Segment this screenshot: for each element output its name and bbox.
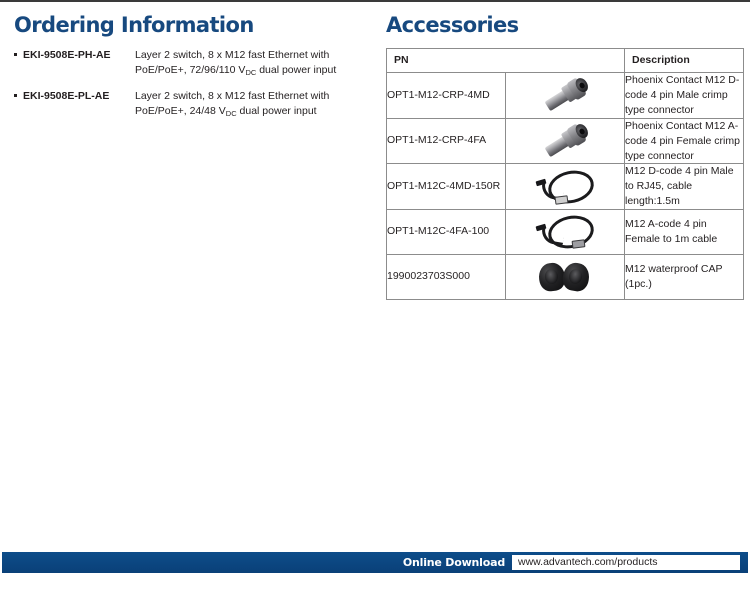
list-item: EKI-9508E-PL-AE Layer 2 switch, 8 x M12 …: [14, 89, 374, 120]
cell-part-number: OPT1-M12C-4FA-100: [387, 210, 506, 255]
m12-connector-female-icon: [532, 121, 598, 161]
bullet-icon: [14, 48, 23, 56]
table-row: OPT1-M12C-4FA-100 M12 A-code 4 pin Femal…: [387, 210, 744, 255]
cell-description: M12 A-code 4 pin Female to 1m cable: [625, 210, 744, 255]
page-top-rule: [0, 0, 750, 2]
ordering-description-subscript: DC: [226, 109, 237, 118]
cell-description: Phoenix Contact M12 A-code 4 pin Female …: [625, 118, 744, 164]
ordering-information-section: Ordering Information EKI-9508E-PH-AE Lay…: [14, 14, 374, 129]
cell-product-image: [506, 73, 625, 119]
ordering-part-number: EKI-9508E-PH-AE: [23, 48, 135, 63]
table-row: 1990023703S000 M12 waterproof CAP (1pc.): [387, 255, 744, 300]
ordering-description: Layer 2 switch, 8 x M12 fast Ethernet wi…: [135, 89, 374, 120]
cell-part-number: OPT1-M12-CRP-4MD: [387, 73, 506, 119]
table-row: OPT1-M12C-4MD-150R M12 D-code 4 pin Male…: [387, 164, 744, 210]
accessories-table-body: OPT1-M12-CRP-4MD Phoenix Contact M12 D-c…: [387, 73, 744, 300]
footer-download-group: Online Download www.advantech.com/produc…: [403, 552, 740, 573]
cell-product-image: [506, 255, 625, 300]
table-row: OPT1-M12-CRP-4MD Phoenix Contact M12 D-c…: [387, 73, 744, 119]
cell-product-image: [506, 210, 625, 255]
table-row: OPT1-M12-CRP-4FA Phoenix Contact M12 A-c…: [387, 118, 744, 164]
cell-description: Phoenix Contact M12 D-code 4 pin Male cr…: [625, 73, 744, 119]
m12-cable-rj45-icon: [532, 167, 598, 207]
online-download-url[interactable]: www.advantech.com/products: [512, 555, 740, 570]
column-header-description: Description: [625, 49, 744, 73]
accessories-table-head: PN Description: [387, 49, 744, 73]
m12-cable-female-icon: [532, 212, 598, 252]
cell-part-number: OPT1-M12-CRP-4FA: [387, 118, 506, 164]
ordering-information-list: EKI-9508E-PH-AE Layer 2 switch, 8 x M12 …: [14, 48, 374, 119]
table-header-row: PN Description: [387, 49, 744, 73]
cell-description: M12 waterproof CAP (1pc.): [625, 255, 744, 300]
footer-bar: Online Download www.advantech.com/produc…: [2, 552, 748, 573]
ordering-description-post: dual power input: [237, 105, 317, 117]
accessories-section: Accessories PN Description OPT1-M12-CRP-…: [386, 14, 744, 300]
cell-part-number: 1990023703S000: [387, 255, 506, 300]
list-item: EKI-9508E-PH-AE Layer 2 switch, 8 x M12 …: [14, 48, 374, 79]
ordering-description-post: dual power input: [256, 64, 336, 76]
m12-connector-male-icon: [532, 75, 598, 115]
online-download-label: Online Download: [403, 556, 512, 569]
ordering-information-heading: Ordering Information: [14, 14, 374, 36]
accessories-table: PN Description OPT1-M12-CRP-4MD Phoenix …: [386, 48, 744, 300]
cell-part-number: OPT1-M12C-4MD-150R: [387, 164, 506, 210]
ordering-part-number: EKI-9508E-PL-AE: [23, 89, 135, 104]
accessories-heading: Accessories: [386, 14, 744, 36]
ordering-description-subscript: DC: [245, 68, 256, 77]
column-header-pn: PN: [387, 49, 625, 73]
cell-description: M12 D-code 4 pin Male to RJ45, cable len…: [625, 164, 744, 210]
cell-product-image: [506, 164, 625, 210]
m12-waterproof-cap-icon: [532, 257, 598, 297]
ordering-description: Layer 2 switch, 8 x M12 fast Ethernet wi…: [135, 48, 374, 79]
bullet-icon: [14, 89, 23, 97]
cell-product-image: [506, 118, 625, 164]
